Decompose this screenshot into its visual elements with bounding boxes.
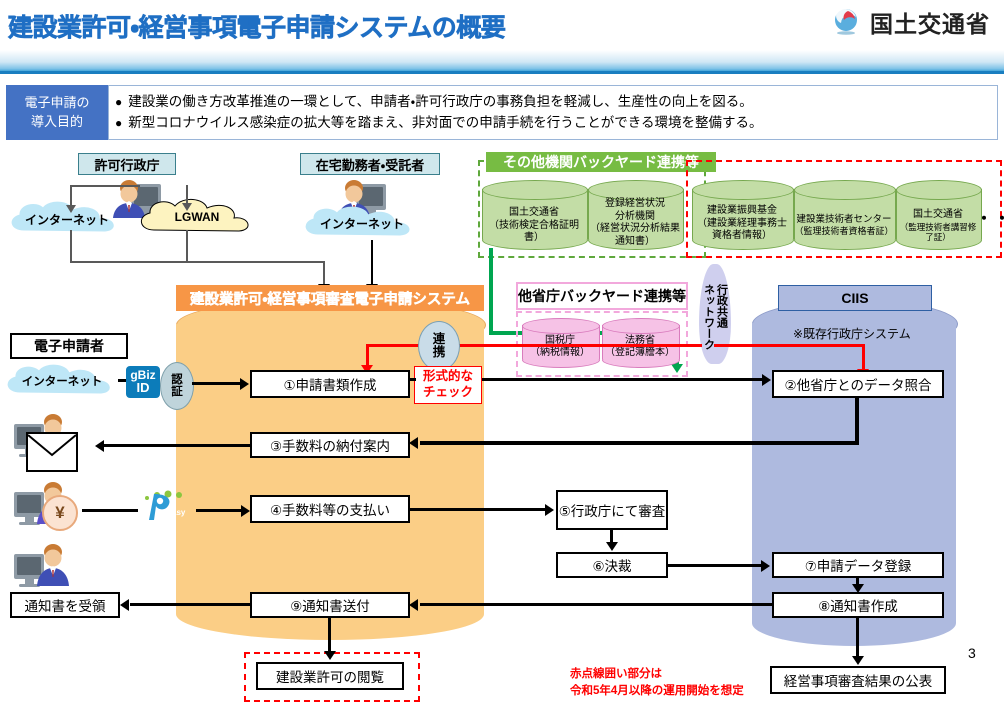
arrow-left-icon [95,440,104,452]
db-engineer-center-detail: （監理技術者資格者証） [794,226,893,237]
arrow-left-icon [409,599,418,611]
arrow-right-icon [761,560,770,572]
connector-line [482,378,764,381]
footnote-line1: 赤点線囲い部分は [570,666,744,683]
db-mlit-2-detail: （監理技術者講習修了証） [896,222,980,243]
connector-line [70,185,140,187]
arrow-right-icon [762,374,771,386]
step-1-box[interactable]: ①申請書類作成 [250,370,410,398]
results-publication-box[interactable]: 経営事項審査結果の公表 [770,666,946,694]
connector-line [420,441,859,445]
permit-browse-box[interactable]: 建設業許可の閲覧 [256,662,404,690]
other-orgs-banner: その他機関バックヤード連携等 [486,152,716,172]
red-link-line [366,344,702,347]
db-moj: 法務省 （登記簿謄本） [602,318,678,368]
db-mlit-2: 国土交通省 （監理技術者講習修了証） [896,180,980,248]
purpose-body: ● 建設業の働き方改革推進の一環として、申請者・許可行政庁の事務負担を軽減し、生… [108,85,998,140]
formal-check-box: 形式的な チェック [414,366,482,404]
ciis-cyl-body [752,323,956,623]
green-link-line [489,248,493,334]
footnote: 赤点線囲い部分は 令和5年4月以降の運用開始を想定 [570,666,744,699]
arrow-left-icon [409,437,418,449]
db-mlit-2-name: 国土交通省 [913,209,963,222]
purpose-bullet-1-text: 建設業の働き方改革推進の一環として、申請者・許可行政庁の事務負担を軽減し、生産性… [128,92,753,112]
connector-line [192,382,242,385]
connector-line [420,603,772,606]
db-promotion-fund: 建設業振興基金 （建設業経理事務士 資格者情報） [692,180,792,248]
cloud-lgwan-label: LGWAN [134,196,260,238]
connector-line [130,603,252,606]
gov-network-label-col2: ネットワーク [702,284,714,350]
mlit-swirl-logo-icon [832,7,862,37]
arrow-down-icon [852,584,864,593]
db-analysis-org-name: 登録経営状況 分析機関 [605,198,665,223]
ministries-banner: 他省庁バックヤード連携等 [516,282,688,310]
connector-line [668,564,762,567]
main-system-banner: 建設業許可・経営事項審査電子申請システム [176,285,484,311]
connector-line [410,378,416,381]
arrow-down-icon [852,656,864,665]
db-promotion-fund-name: 建設業振興基金 [707,205,777,218]
arrow-left-icon [120,599,129,611]
db-nta: 国税庁 （納税情報） [522,318,598,368]
ministry-logo: 国土交通省 [832,5,990,39]
cloud-lgwan: LGWAN [134,196,260,238]
db-analysis-org: 登録経営状況 分析機関 （経営状況分析結果 通知書） [588,180,682,248]
person-at-pc-icon [12,540,84,599]
envelope-icon [26,432,78,472]
step-3-box[interactable]: ③手数料の納付案内 [250,432,410,458]
arrow-right-icon [545,504,554,516]
purpose-bullet-2-text: 新型コロナウイルス感染症の拡大等を踏まえ、非対面での申請手続を行うことができる環… [128,113,762,133]
db-moj-detail: （登記簿謄本） [605,347,675,360]
ciis-subtitle: ※既存行政庁システム [793,325,911,342]
header-gradient-band [0,50,1004,72]
connector-line [82,509,138,512]
connector-line [196,509,244,512]
renkei-badge-ch2: 携 [433,346,446,359]
db-nta-detail: （納税情報） [530,347,590,360]
connector-line [70,230,72,262]
step-5-box[interactable]: ⑤行政庁にて審査 [556,490,668,530]
step-2-box[interactable]: ②他省庁とのデータ照合 [772,370,944,398]
connector-line [186,230,188,262]
receive-notice-box: 通知書を受領 [10,592,120,618]
db-analysis-org-detail: （経営状況分析結果 通知書） [590,223,680,248]
applicant-title: 電子申請者 [10,333,128,359]
gov-network-label-col1: 行政共通 [715,284,727,328]
step-7-box[interactable]: ⑦申請データ登録 [772,552,944,578]
purpose-bullet-1: ● 建設業の働き方改革推進の一環として、申請者・許可行政庁の事務負担を軽減し、生… [115,92,991,112]
red-link-line [714,344,864,347]
db-mlit-1-name: 国土交通省 [509,207,559,220]
db-mlit-1: 国土交通省 （技術検定合格証明書） [482,180,586,248]
db-engineer-center-name: 建設業技術者センター [796,214,891,226]
gbiz-line2: ID [137,382,150,394]
slide-canvas: 建設業許可・経営事項電子申請システムの概要 国土交通省 電子申請の 導入目的 ●… [0,0,1004,707]
connector-line [328,618,331,654]
db-engineer-center: 建設業技術者センター （監理技術者資格者証） [794,180,894,248]
svg-text:ay-easy: ay-easy [156,508,186,517]
connector-line [410,508,546,511]
step-4-box[interactable]: ④手数料等の支払い [250,495,410,523]
connector-line [118,379,126,382]
ciis-banner: CIIS [778,285,932,311]
page-number: 3 [968,645,976,661]
connector-line [186,185,188,205]
connector-line [70,261,324,263]
purpose-label: 電子申請の 導入目的 [6,85,108,140]
bullet-icon: ● [115,117,122,129]
renkei-badge: 連 携 [418,321,460,371]
step-9-box[interactable]: ⑨通知書送付 [250,592,410,618]
connector-line [855,398,859,444]
purpose-label-line2: 導入目的 [31,113,83,132]
yen-coin-icon: ¥ [42,495,78,531]
footnote-line2: 令和5年4月以降の運用開始を想定 [570,683,744,700]
connector-line [856,618,859,658]
arrow-down-icon [66,205,76,213]
ellipsis-icon: ・・・ [976,205,1004,229]
arrow-down-icon [182,203,192,211]
arrow-right-icon [240,378,249,390]
connector-line [104,444,252,447]
ministry-logo-text: 国土交通省 [870,5,990,39]
step-8-box[interactable]: ⑧通知書作成 [772,592,944,618]
red-link-line [862,344,865,372]
arrow-down-icon [606,542,618,551]
authentication-badge: 認 証 [160,362,194,410]
cloud-internet-applicant: インターネット [2,363,122,399]
pay-easy-icon: ay-easy [140,486,204,524]
step-6-box[interactable]: ⑥決裁 [556,552,668,578]
auth-ch2: 証 [171,386,183,398]
arrow-right-icon [241,505,250,517]
connector-line [70,185,72,207]
cloud-internet-telework-label: インターネット [300,205,424,241]
page-title: 建設業許可・経営事項電子申請システムの概要 [8,8,505,44]
purpose-bullet-2: ● 新型コロナウイルス感染症の拡大等を踏まえ、非対面での申請手続を行うことができ… [115,113,991,133]
cloud-internet-applicant-label: インターネット [2,363,122,399]
purpose-label-line1: 電子申請の [24,94,89,113]
arrow-down-icon [324,651,336,660]
db-promotion-fund-detail: （建設業経理事務士 資格者情報） [697,218,787,243]
gbiz-id-icon: gBiz ID [126,366,160,398]
connector-line [371,240,373,287]
auth-ch1: 認 [171,374,183,386]
db-mlit-1-detail: （技術検定合格証明書） [482,220,586,245]
header-rule [0,71,1004,74]
bullet-icon: ● [115,96,122,108]
cloud-internet-telework: インターネット [300,205,424,241]
